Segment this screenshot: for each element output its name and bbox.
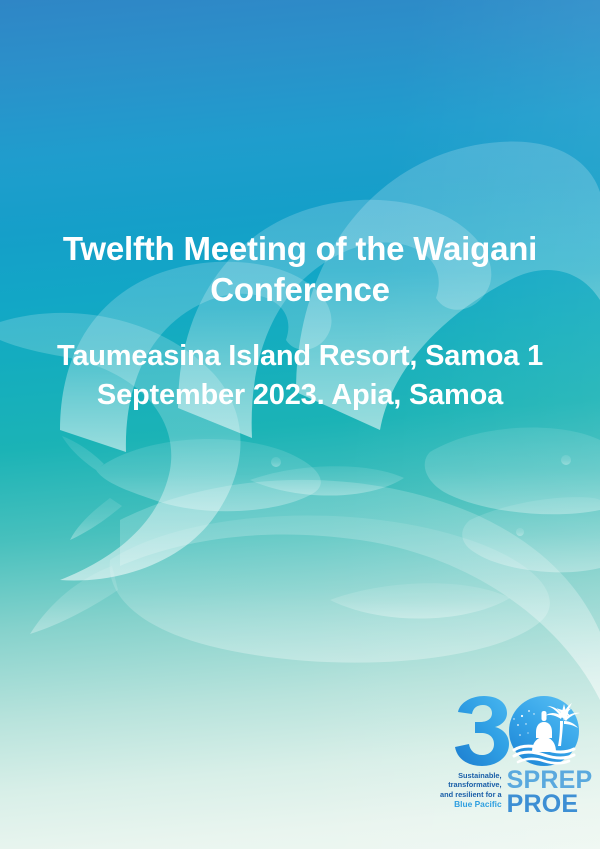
wordmark-sprep: SPREP xyxy=(507,768,593,792)
tagline-blue-pacific: Blue Pacific xyxy=(440,799,502,810)
logo-tagline: Sustainable, transformative, and resilie… xyxy=(440,768,502,810)
numeral-three xyxy=(455,696,509,766)
subtitle-line-2: September 2023. Apia, Samoa xyxy=(97,379,503,411)
tagline-line-3: and resilient for a xyxy=(440,790,502,799)
sprep-island-emblem xyxy=(509,696,580,766)
tagline-line-2: transformative, xyxy=(440,780,502,789)
anniversary-30-mark xyxy=(450,694,580,770)
title-text: Twelfth Meeting of the Waigani Conferenc… xyxy=(26,228,574,310)
wordmark-proe: PROE xyxy=(507,792,593,817)
page-subtitle: Taumeasina Island Resort, Samoa 1 Septem… xyxy=(18,337,582,415)
subtitle-text: Taumeasina Island Resort, Samoa 1 Septem… xyxy=(18,337,582,415)
title-line-1: Twelfth Meeting of the Waigani xyxy=(63,230,537,267)
title-line-2: Conference xyxy=(210,271,390,308)
page-title: Twelfth Meeting of the Waigani Conferenc… xyxy=(26,228,574,310)
cover-page: Twelfth Meeting of the Waigani Conferenc… xyxy=(0,0,600,849)
tagline-line-1: Sustainable, xyxy=(440,771,502,780)
cover-content: Twelfth Meeting of the Waigani Conferenc… xyxy=(0,0,600,849)
logo-lower-row: Sustainable, transformative, and resilie… xyxy=(440,768,586,830)
subtitle-line-1: Taumeasina Island Resort, Samoa 1 xyxy=(57,340,543,372)
sprep-logo: Sustainable, transformative, and resilie… xyxy=(440,694,586,830)
sprep-wordmark: SPREP PROE xyxy=(502,768,593,817)
